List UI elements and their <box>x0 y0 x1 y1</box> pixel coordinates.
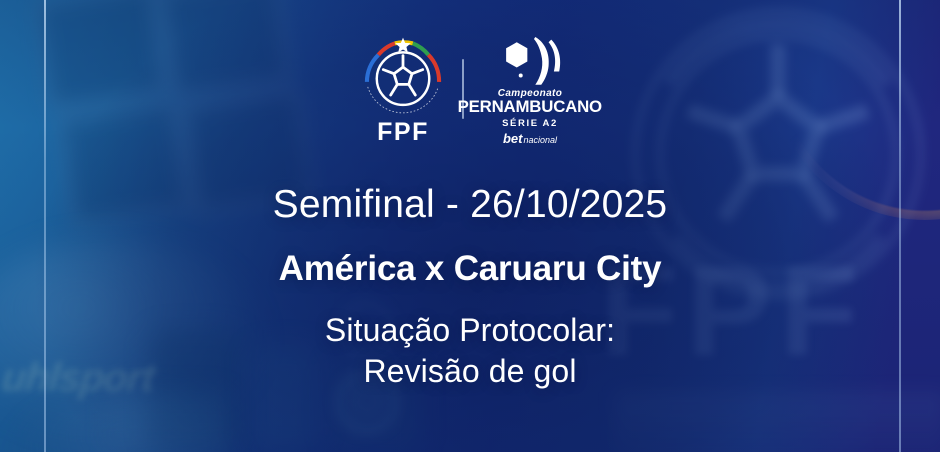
protocol-status: Situação Protocolar: Revisão de gol <box>325 310 615 392</box>
cp-line-serie: SÉRIE A2 <box>502 117 558 130</box>
sponsor-bet-text: bet <box>503 132 523 145</box>
campeonato-pernambucano-icon <box>494 33 566 87</box>
fpf-crest-icon: FPF <box>362 34 444 144</box>
logo-row: FPF Campeonato PERNAMBUCANO SÉRIE A2 bet… <box>362 30 578 148</box>
campeonato-pernambucano-logo: Campeonato PERNAMBUCANO SÉRIE A2 bet nac… <box>482 33 578 145</box>
match-title: América x Caruaru City <box>279 250 662 289</box>
fpf-wordmark: FPF <box>362 120 444 145</box>
sponsor-betnacional-logo: bet nacional <box>503 132 557 145</box>
cp-line-pernambucano: PERNAMBUCANO <box>458 99 602 116</box>
content-area: FPF Campeonato PERNAMBUCANO SÉRIE A2 bet… <box>0 0 940 452</box>
sponsor-nacional-text: nacional <box>523 136 557 145</box>
protocol-status-value: Revisão de gol <box>325 351 615 392</box>
round-and-date: Semifinal - 26/10/2025 <box>273 184 668 227</box>
match-status-graphic: uhlsport FPF <box>0 0 940 452</box>
protocol-status-label: Situação Protocolar: <box>325 310 615 351</box>
